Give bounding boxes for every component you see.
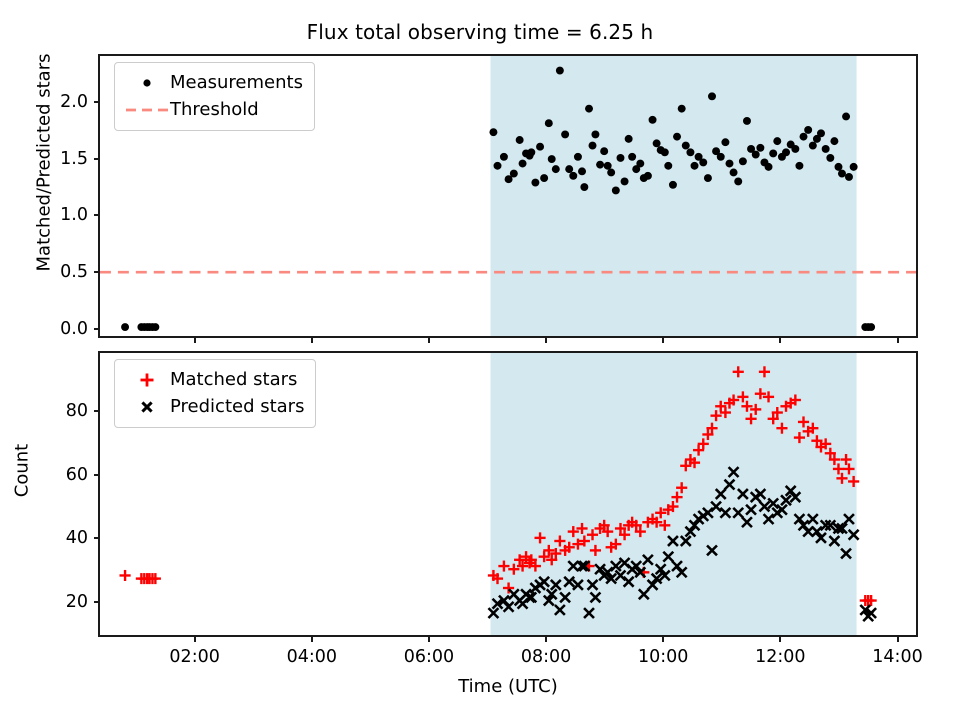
data-point	[527, 148, 535, 156]
data-point	[717, 153, 725, 161]
data-point	[769, 149, 777, 157]
y-tick-mark	[94, 474, 99, 476]
x-tick-mark	[662, 338, 664, 343]
x-tick-mark	[311, 637, 313, 642]
x-tick-mark	[545, 637, 547, 642]
x-tick-mark	[428, 637, 430, 642]
x-tick-mark	[779, 637, 781, 642]
data-point	[591, 130, 599, 138]
data-point	[708, 92, 716, 100]
data-point	[552, 165, 560, 173]
data-point	[795, 162, 803, 170]
data-point	[649, 116, 657, 124]
data-point	[678, 105, 686, 113]
top-panel-legend[interactable]: Measurements Threshold	[114, 62, 315, 131]
x-tick-label: 14:00	[872, 647, 922, 667]
legend-item-measurements[interactable]: Measurements	[124, 69, 303, 96]
data-point	[682, 142, 690, 150]
x-tick-mark	[194, 637, 196, 642]
data-point	[691, 162, 699, 170]
x-tick-mark	[897, 338, 899, 343]
data-point	[867, 323, 875, 331]
data-point	[540, 174, 548, 182]
data-point	[578, 167, 586, 175]
data-point	[500, 153, 508, 161]
data-point	[830, 137, 838, 145]
data-point	[489, 128, 497, 136]
data-point	[699, 158, 707, 166]
x-tick-label: 02:00	[169, 647, 219, 667]
data-point	[822, 145, 830, 153]
data-point	[838, 170, 846, 178]
data-point	[510, 170, 518, 178]
data-point	[809, 142, 817, 150]
x-tick-label: 04:00	[287, 647, 337, 667]
data-point	[548, 155, 556, 163]
data-point	[561, 130, 569, 138]
data-point	[569, 172, 577, 180]
data-point	[726, 160, 734, 168]
figure-canvas: Flux total observing time = 6.25 h 0.00.…	[0, 0, 960, 720]
x-tick-mark	[545, 338, 547, 343]
data-point	[734, 177, 742, 185]
legend-label-matched-stars: Matched stars	[170, 369, 297, 390]
data-point	[596, 161, 604, 169]
data-point	[617, 154, 625, 162]
data-point	[842, 113, 850, 121]
data-point	[636, 160, 644, 168]
data-point	[743, 117, 751, 125]
x-tick-label: 08:00	[521, 647, 571, 667]
data-point	[739, 157, 747, 165]
data-point	[653, 139, 661, 147]
x-tick-mark	[194, 338, 196, 343]
data-point	[686, 148, 694, 156]
data-point	[604, 162, 612, 170]
matched-stars-plus-icon	[124, 370, 170, 390]
legend-item-matched-stars[interactable]: Matched stars	[124, 366, 304, 393]
y-tick-mark	[94, 101, 99, 103]
y-tick-label: 0.0	[4, 319, 88, 339]
data-point	[516, 136, 524, 144]
legend-label-measurements: Measurements	[170, 72, 303, 93]
x-tick-label: 06:00	[404, 647, 454, 667]
predicted-stars-x-icon	[124, 397, 170, 417]
data-point	[826, 154, 834, 162]
data-point	[625, 135, 633, 143]
data-point	[628, 153, 636, 161]
data-point	[589, 142, 597, 150]
data-point	[600, 147, 608, 155]
data-point	[494, 162, 502, 170]
data-point	[531, 179, 539, 187]
y-tick-mark	[94, 410, 99, 412]
data-point	[545, 119, 553, 127]
observing-window-shading	[491, 56, 857, 336]
data-point	[580, 183, 588, 191]
data-point	[782, 148, 790, 156]
data-point	[565, 165, 573, 173]
x-tick-mark	[662, 637, 664, 642]
observing-window-shading	[491, 353, 857, 635]
data-point	[585, 105, 593, 113]
x-tick-mark	[311, 338, 313, 343]
page-title: Flux total observing time = 6.25 h	[0, 20, 960, 44]
data-point	[765, 163, 773, 171]
x-tick-mark	[897, 637, 899, 642]
threshold-dashed-line-icon	[124, 100, 170, 120]
measurements-point-icon	[124, 73, 170, 93]
y-tick-label: 20	[4, 592, 88, 612]
data-point	[756, 144, 764, 152]
data-point	[773, 137, 781, 145]
data-point	[519, 160, 527, 168]
data-point	[621, 177, 629, 185]
legend-label-predicted-stars: Predicted stars	[170, 396, 304, 417]
legend-item-predicted-stars[interactable]: Predicted stars	[124, 393, 304, 420]
data-point	[536, 143, 544, 151]
y-tick-mark	[94, 601, 99, 603]
data-point	[673, 133, 681, 141]
x-axis-label: Time (UTC)	[98, 676, 918, 697]
data-point	[730, 169, 738, 177]
x-tick-label: 10:00	[638, 647, 688, 667]
data-point	[607, 169, 615, 177]
y-tick-mark	[94, 271, 99, 273]
data-point	[791, 145, 799, 153]
data-point	[834, 163, 842, 171]
data-point	[850, 163, 858, 171]
top-panel-y-axis-label: Matched/Predicted stars	[34, 23, 55, 303]
data-point	[644, 172, 652, 180]
data-point	[556, 67, 564, 75]
legend-label-threshold: Threshold	[170, 99, 259, 120]
data-point	[804, 126, 812, 134]
data-point	[121, 323, 129, 331]
data-point	[704, 174, 712, 182]
x-tick-mark	[428, 338, 430, 343]
bottom-panel-legend[interactable]: Matched stars Predicted stars	[114, 359, 316, 428]
data-point	[612, 186, 620, 194]
legend-item-threshold[interactable]: Threshold	[124, 96, 303, 123]
y-tick-mark	[94, 537, 99, 539]
data-point	[669, 181, 677, 189]
data-point	[817, 129, 825, 137]
y-tick-mark	[94, 214, 99, 216]
bottom-panel-y-axis-label: Count	[12, 381, 33, 561]
y-tick-mark	[94, 158, 99, 160]
y-tick-mark	[94, 328, 99, 330]
data-point	[752, 151, 760, 159]
data-point	[800, 133, 808, 141]
x-tick-label: 12:00	[755, 647, 805, 667]
data-point	[721, 138, 729, 146]
data-point	[151, 323, 159, 331]
data-point	[574, 153, 582, 161]
data-point	[664, 162, 672, 170]
x-tick-mark	[779, 338, 781, 343]
data-point	[661, 148, 669, 156]
data-point	[845, 173, 853, 181]
